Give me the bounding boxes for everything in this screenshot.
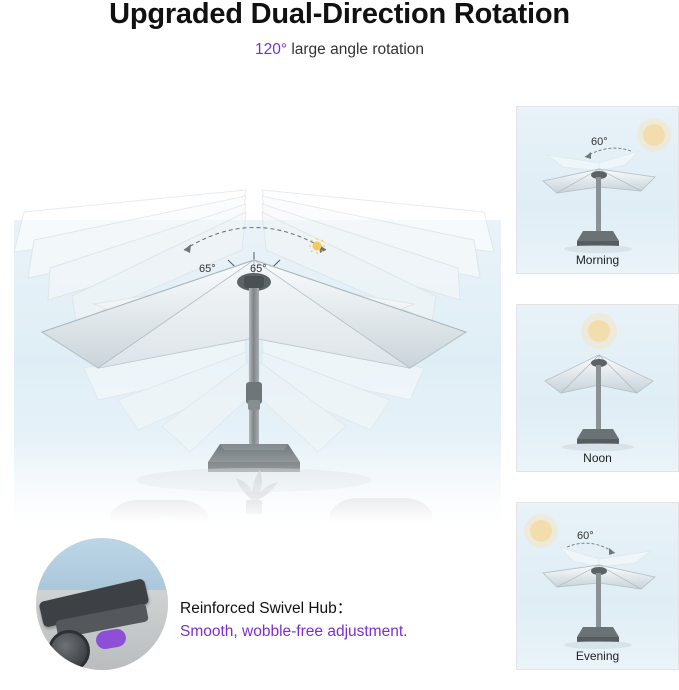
main-scene: 65° 65°	[14, 100, 501, 530]
side-panel-morning: 60° Morning	[516, 106, 679, 274]
evening-angle-label: 60°	[577, 530, 594, 542]
left-angle-label: 65°	[199, 263, 216, 275]
noon-caption: Noon	[517, 451, 678, 465]
morning-caption: Morning	[517, 253, 678, 267]
evening-illustration	[517, 503, 679, 670]
morning-base	[577, 231, 619, 241]
evening-caption: Evening	[517, 649, 678, 663]
side-panel-noon: Noon	[516, 304, 679, 472]
evening-base	[577, 627, 619, 637]
hub-subheading: Smooth, wobble-free adjustment.	[180, 623, 510, 641]
morning-illustration	[517, 107, 679, 274]
morning-angle-label: 60°	[591, 136, 608, 148]
hub-swivel-disc	[48, 630, 90, 670]
hub-text-block: Reinforced Swivel Hub： Smooth, wobble-fr…	[180, 596, 510, 641]
side-panel-evening: 60° Evening	[516, 502, 679, 670]
noon-illustration	[517, 305, 679, 472]
hub-heading: Reinforced Swivel Hub：	[180, 596, 510, 618]
noon-base	[577, 429, 619, 439]
scene-floor-fade	[14, 440, 501, 530]
subtitle-text: large angle rotation	[287, 41, 424, 58]
subtitle-angle-value: 120°	[255, 41, 287, 58]
right-angle-label: 65°	[250, 263, 267, 275]
page-subtitle: 120° large angle rotation	[0, 41, 679, 59]
page-title: Upgraded Dual-Direction Rotation	[0, 0, 679, 31]
product-infographic: Upgraded Dual-Direction Rotation 120° la…	[0, 0, 679, 690]
swivel-hub-photo	[36, 538, 168, 670]
